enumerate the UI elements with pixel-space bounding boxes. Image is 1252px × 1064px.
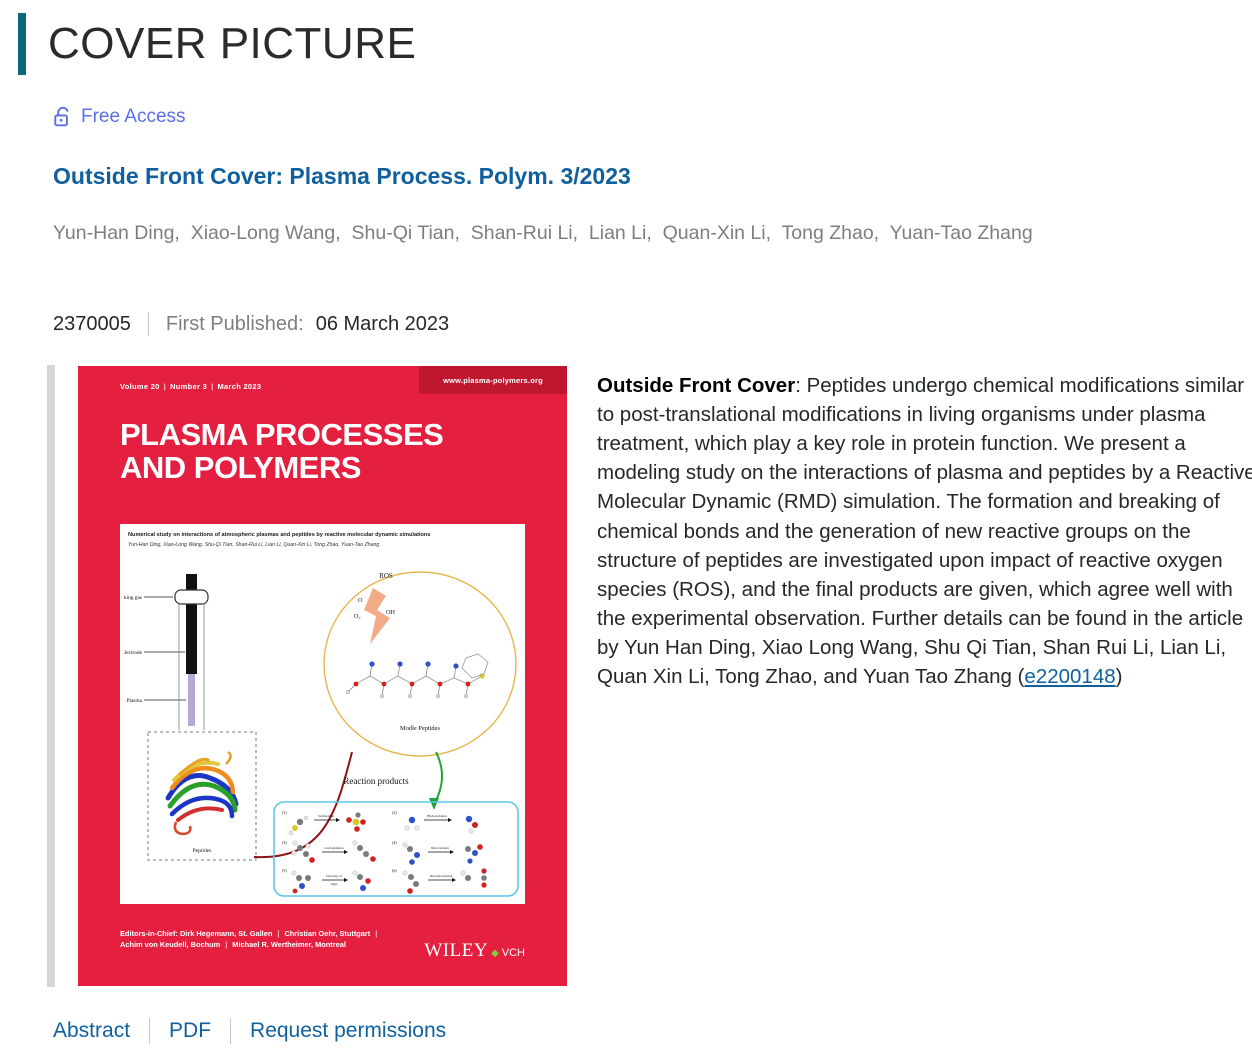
cover-scheme-figure: Working gas Electrode Plasma (124, 552, 522, 900)
editors-2a: Achim von Keudell, Bochum (120, 940, 220, 949)
reaction-products-box: (1) Sulfonation (274, 802, 518, 896)
label-ros-o: O (358, 597, 363, 604)
header-accent-bar (18, 13, 26, 75)
free-access-badge[interactable]: Free Access (53, 106, 186, 128)
reaction-index-5: (5) (282, 868, 287, 873)
article-doi-link[interactable]: e2200148 (1024, 665, 1115, 688)
reaction-index-1: (1) (282, 810, 287, 815)
article-action-links: Abstract PDF Request permissions (53, 1018, 446, 1044)
peptide-structure-box: Peptides (148, 732, 256, 860)
author-link[interactable]: Lian Li (589, 222, 646, 244)
reaction-name-2: Hydroxylation (427, 814, 447, 818)
cover-number: Number 3 (170, 382, 207, 391)
author-link[interactable]: Tong Zhao (782, 222, 874, 244)
label-working-gas: Working gas (124, 595, 142, 601)
first-published-label: First Published: (166, 313, 304, 336)
plasma-jet-device: Working gas Electrode Plasma (124, 574, 208, 730)
label-model-peptides: Modle Peptides (400, 725, 440, 732)
cover-caption-text: Numerical study on interactions of atmos… (128, 532, 430, 538)
author-link[interactable]: Quan-Xin Li (663, 222, 766, 244)
article-page: COVER PICTURE Free Access Outside Front … (0, 0, 1252, 1064)
cover-journal-title: PLASMA PROCESSES AND POLYMERS (120, 418, 443, 485)
request-permissions-link[interactable]: Request permissions (250, 1019, 446, 1043)
reaction-name-5b: rings (331, 882, 338, 886)
label-electrode: Electrode (124, 650, 143, 656)
cover-figure-caption: Numerical study on interactions of atmos… (128, 532, 518, 549)
content-left-rail (47, 365, 55, 987)
reaction-index-2: (2) (392, 810, 397, 815)
page-title: COVER PICTURE (48, 22, 416, 66)
author-list: Yun-Han Ding, Xiao-Long Wang, Shu-Qi Tia… (53, 218, 1251, 250)
reaction-index-6: (6) (392, 868, 397, 873)
first-published-date: 06 March 2023 (316, 313, 449, 336)
cover-description: Outside Front Cover: Peptides undergo ch… (597, 371, 1252, 691)
pdf-link[interactable]: PDF (169, 1019, 211, 1043)
abstract-lead: Outside Front Cover (597, 374, 795, 397)
meta-divider (148, 312, 149, 336)
reaction-name-5: Cleavage of (326, 874, 343, 878)
article-title-link[interactable]: Outside Front Cover: Plasma Process. Pol… (53, 162, 1233, 191)
journal-cover-image[interactable]: Volume 20|Number 3|March 2023 www.plasma… (78, 366, 567, 986)
cover-month: March 2023 (217, 382, 261, 391)
reaction-name-4: Nitrosylation (431, 846, 449, 850)
author-link[interactable]: Shan-Rui Li (471, 222, 573, 244)
cover-masthead: Volume 20|Number 3|March 2023 www.plasma… (78, 366, 567, 518)
ros-ellipse: ROS O O₂ OH (324, 572, 516, 756)
author-link[interactable]: Shu-Qi Tian (352, 222, 455, 244)
label-plasma: Plasma (126, 698, 142, 704)
cover-journal-title-line1: PLASMA PROCESSES (120, 418, 443, 451)
footer-divider (149, 1018, 150, 1044)
cover-url-box: www.plasma-polymers.org (419, 366, 567, 394)
cover-caption-authors: Yun-Han Ding, Xiao-Long Wang, Shu-Qi Tia… (128, 542, 518, 549)
wiley-wordmark: WILEY (424, 940, 488, 962)
cover-editors-line-1: Editors-in-Chief: Dirk Hegemann, St. Gal… (120, 928, 567, 939)
label-ros-oh: OH (386, 609, 395, 616)
label-peptides: Peptides (193, 848, 212, 854)
abstract-body: : Peptides undergo chemical modification… (597, 374, 1252, 688)
vch-wordmark: VCH (502, 947, 525, 959)
cover-website: www.plasma-polymers.org (443, 376, 543, 385)
label-ros-o2: O₂ (354, 613, 361, 620)
free-access-label: Free Access (81, 106, 186, 128)
footer-divider (230, 1018, 231, 1044)
cover-volume-line: Volume 20|Number 3|March 2023 (120, 382, 261, 391)
editors-2b: Michael R. Wertheimer, Montreal (232, 940, 346, 949)
author-link[interactable]: Yuan-Tao Zhang (890, 222, 1033, 244)
editors-1b: Christian Oehr, Stuttgart (284, 929, 370, 938)
open-lock-icon (53, 106, 73, 128)
wiley-dot-icon: ◆ (491, 948, 499, 959)
label-reaction-products: Reaction products (343, 776, 409, 786)
cover-volume: Volume 20 (120, 382, 160, 391)
article-id: 2370005 (53, 313, 131, 336)
cover-footer: Editors-in-Chief: Dirk Hegemann, St. Gal… (120, 928, 567, 951)
page-header: COVER PICTURE (0, 10, 416, 78)
author-link[interactable]: Xiao-Long Wang (191, 222, 336, 244)
cover-figure-panel: Numerical study on interactions of atmos… (120, 524, 525, 904)
cover-journal-title-line2: AND POLYMERS (120, 451, 443, 484)
reaction-name-1: Sulfonation (318, 814, 334, 818)
article-meta: 2370005 First Published: 06 March 2023 (53, 312, 449, 336)
reaction-index-3: (3) (282, 840, 287, 845)
abstract-link[interactable]: Abstract (53, 1019, 130, 1043)
reaction-index-4: (4) (392, 840, 397, 845)
label-ros: ROS (379, 572, 393, 580)
reaction-name-6: Decarboxylation (430, 874, 453, 878)
editors-1a: Editors-in-Chief: Dirk Hegemann, St. Gal… (120, 929, 272, 938)
reaction-name-3: Carbonylation (324, 846, 344, 850)
model-peptide-chain (346, 654, 488, 698)
author-link[interactable]: Yun-Han Ding (53, 222, 174, 244)
wiley-vch-logo: WILEY ◆ VCH (424, 940, 525, 962)
abstract-tail: ) (1116, 665, 1123, 688)
